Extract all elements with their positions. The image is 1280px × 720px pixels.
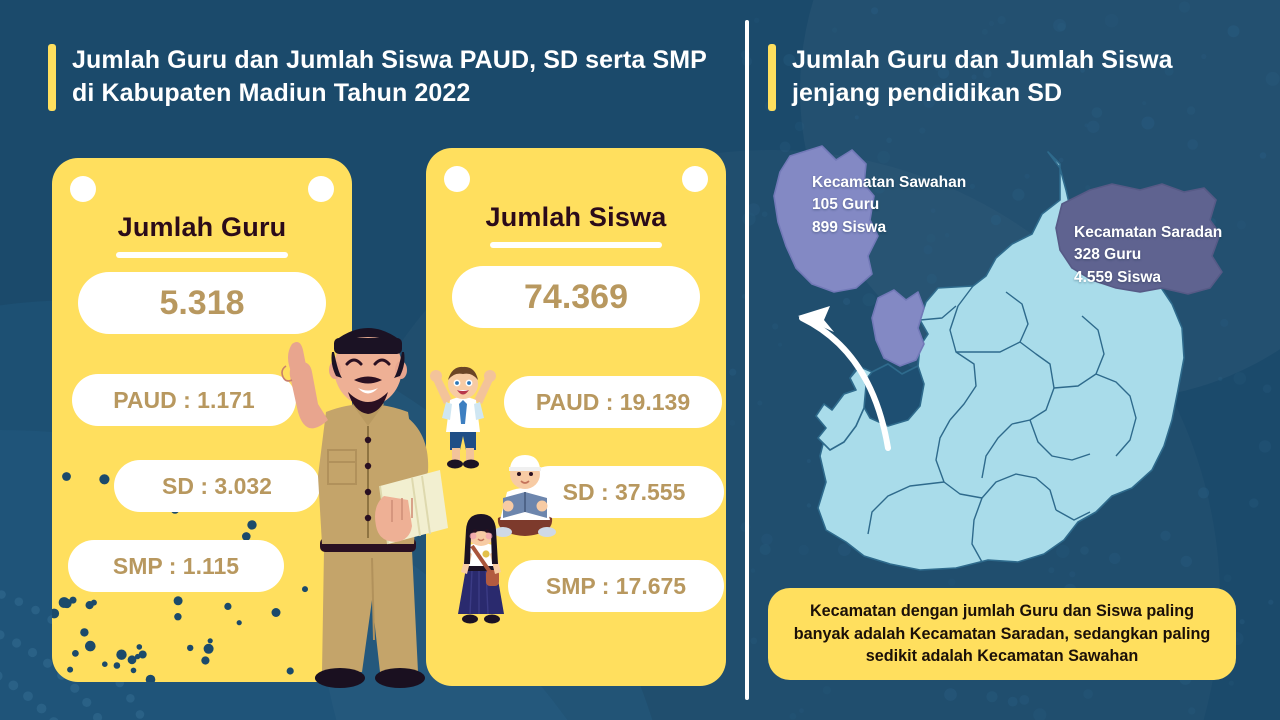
title-accent-bar [768, 44, 776, 111]
sawahan-district-name: Kecamatan Sawahan [812, 172, 966, 194]
punch-hole-right [308, 176, 334, 202]
left-title-text: Jumlah Guru dan Jumlah Siswa PAUD, SD se… [72, 44, 708, 111]
card-heading-guru: Jumlah Guru [52, 212, 352, 243]
sawahan-teacher-count: 105 Guru [812, 194, 966, 216]
card-heading-underline [490, 242, 662, 248]
card-heading-underline [116, 252, 288, 258]
map-caption-text: Kecamatan dengan jumlah Guru dan Siswa p… [782, 600, 1222, 667]
panel-divider [745, 20, 749, 700]
map-caption-box: Kecamatan dengan jumlah Guru dan Siswa p… [768, 588, 1236, 680]
sawahan-student-count: 899 Siswa [812, 217, 966, 239]
saradan-student-count: 4.559 Siswa [1074, 267, 1222, 289]
title-accent-bar [48, 44, 56, 111]
map-region-sawahan-strip [872, 290, 924, 366]
saradan-district-name: Kecamatan Saradan [1074, 222, 1222, 244]
map-label-sawahan: Kecamatan Sawahan 105 Guru 899 Siswa [812, 172, 966, 239]
siswa-row-smp: SMP : 17.675 [508, 560, 724, 612]
card-heading-siswa: Jumlah Siswa [426, 202, 726, 233]
guru-row-smp: SMP : 1.115 [68, 540, 284, 592]
map-label-saradan: Kecamatan Saradan 328 Guru 4.559 Siswa [1074, 222, 1222, 289]
infographic-canvas: Jumlah Guru dan Jumlah Siswa PAUD, SD se… [0, 0, 1280, 720]
punch-hole-left [444, 166, 470, 192]
saradan-teacher-count: 328 Guru [1074, 244, 1222, 266]
right-panel-title: Jumlah Guru dan Jumlah Siswa jenjang pen… [768, 44, 1238, 111]
teacher-illustration [262, 300, 472, 720]
left-panel-title: Jumlah Guru dan Jumlah Siswa PAUD, SD se… [48, 44, 708, 111]
right-title-text: Jumlah Guru dan Jumlah Siswa jenjang pen… [792, 44, 1238, 111]
punch-hole-left [70, 176, 96, 202]
siswa-row-paud: PAUD : 19.139 [504, 376, 722, 428]
punch-hole-right [682, 166, 708, 192]
siswa-total-value: 74.369 [452, 266, 700, 328]
